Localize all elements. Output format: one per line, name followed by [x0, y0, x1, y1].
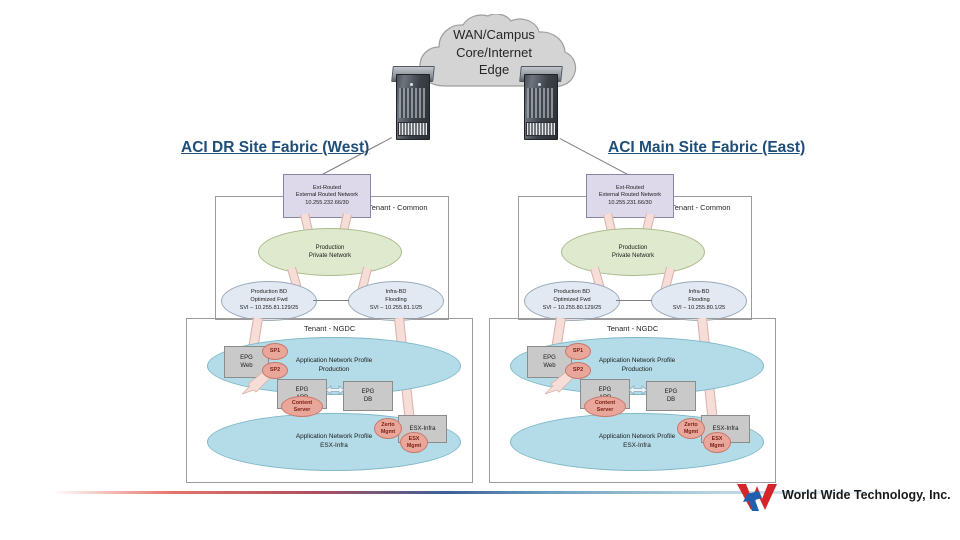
bridge-domain-production-west[interactable]: Production BD Optimized Fwd SVI – 10.255…	[221, 281, 317, 321]
chassis-slots-east	[527, 88, 553, 118]
anp-line-1: Application Network Profile	[599, 357, 675, 366]
vrf-line-2: Private Network	[612, 252, 654, 260]
tenant-ngdc-label-east: Tenant - NGDC	[607, 324, 658, 333]
ext-routed-line-2: External Routed Network	[599, 192, 661, 200]
anp-line-2: Production	[622, 366, 653, 375]
epg-line-1: EPG	[543, 354, 556, 362]
bd-name: Production BD	[251, 289, 287, 297]
bd-svi: SVI – 10.255.81.1/25	[370, 305, 423, 313]
pill-line-1: Content	[292, 400, 312, 407]
service-esx-mgmt-west[interactable]: ESX Mgmt	[400, 432, 428, 453]
pill-line-1: Content	[595, 400, 615, 407]
epg-line-1: EPG	[665, 388, 678, 396]
anp-line-2: ESX-Infra	[623, 442, 651, 451]
chassis-fan-west	[398, 122, 428, 136]
cloud-line-1: WAN/Campus	[408, 26, 580, 44]
pill-line-2: Mgmt	[684, 429, 698, 436]
pill-line-1: Zerto	[684, 422, 697, 429]
fabric-title-east: ACI Main Site Fabric (East)	[608, 139, 805, 157]
service-sp2-west[interactable]: SP2	[262, 362, 288, 379]
vrf-line-1: Production	[316, 244, 345, 252]
bridge-domain-production-east[interactable]: Production BD Optimized Fwd SVI – 10.255…	[524, 281, 620, 321]
pill-line-2: Mgmt	[407, 443, 421, 450]
pill-line-2: Server	[294, 407, 311, 414]
pill-line-1: Zerto	[381, 422, 394, 429]
vrf-line-1: Production	[619, 244, 648, 252]
tenant-common-label-west: Tenant - Common	[368, 203, 428, 212]
bd-name: Infra-BD	[689, 289, 710, 297]
contract-arrow-west	[322, 386, 348, 402]
ext-routed-line-1: Ext-Routed	[313, 185, 341, 193]
service-sp2-east[interactable]: SP2	[565, 362, 591, 379]
chassis-led-east	[538, 83, 541, 86]
bd-mode: Optimized Fwd	[553, 297, 590, 305]
bd-svi: SVI – 10.255.80.129/25	[543, 305, 602, 313]
bridge-domain-infra-west[interactable]: Infra-BD Flooding SVI – 10.255.81.1/25	[348, 281, 444, 321]
tenant-ngdc-label-west: Tenant - NGDC	[304, 324, 355, 333]
bd-mode: Optimized Fwd	[250, 297, 287, 305]
anp-line-1: Application Network Profile	[296, 357, 372, 366]
epg-db-west[interactable]: EPG DB	[343, 381, 393, 411]
bd-peer-line-east	[616, 300, 652, 301]
pill-line-1: SP1	[573, 348, 583, 355]
epg-line-1: EPG	[296, 386, 309, 394]
ext-routed-line-1: Ext-Routed	[616, 185, 644, 193]
anp-line-2: Production	[319, 366, 350, 375]
service-esx-mgmt-east[interactable]: ESX Mgmt	[703, 432, 731, 453]
contract-arrow-east	[625, 386, 651, 402]
pill-line-2: Server	[597, 407, 614, 414]
service-content-server-east[interactable]: Content Server	[584, 396, 626, 417]
ext-routed-network-box-east[interactable]: Ext-Routed External Routed Network 10.25…	[586, 174, 674, 218]
pill-line-2: Mgmt	[381, 429, 395, 436]
core-router-east	[520, 66, 560, 138]
bd-name: Infra-BD	[386, 289, 407, 297]
bd-mode: Flooding	[688, 297, 709, 305]
ext-routed-line-3: 10.255.231.66/30	[608, 200, 652, 208]
service-sp1-east[interactable]: SP1	[565, 343, 591, 360]
tenant-common-label-east: Tenant - Common	[671, 203, 731, 212]
service-sp1-west[interactable]: SP1	[262, 343, 288, 360]
pill-line-2: Mgmt	[710, 443, 724, 450]
bd-peer-line-west	[313, 300, 349, 301]
epg-line-1: EPG	[599, 386, 612, 394]
vrf-production-private-network-west[interactable]: Production Private Network	[258, 228, 402, 276]
epg-line-1: EPG	[240, 354, 253, 362]
bd-name: Production BD	[554, 289, 590, 297]
anp-line-1: Application Network Profile	[599, 433, 675, 442]
company-name: World Wide Technology, Inc.	[782, 488, 951, 502]
core-router-west	[392, 66, 432, 138]
vrf-production-private-network-east[interactable]: Production Private Network	[561, 228, 705, 276]
ext-routed-line-2: External Routed Network	[296, 192, 358, 200]
chassis-led-west	[410, 83, 413, 86]
chassis-fan-east	[526, 122, 556, 136]
vrf-line-2: Private Network	[309, 252, 351, 260]
fabric-title-west: ACI DR Site Fabric (West)	[181, 139, 369, 157]
anp-line-1: Application Network Profile	[296, 433, 372, 442]
pill-line-1: ESX	[409, 436, 420, 443]
chassis-slots-west	[399, 88, 425, 118]
pill-line-1: SP2	[573, 367, 583, 374]
bd-svi: SVI – 10.255.81.129/25	[240, 305, 299, 313]
pill-line-1: SP2	[270, 367, 280, 374]
epg-line-2: DB	[667, 396, 675, 404]
pill-line-1: SP1	[270, 348, 280, 355]
diagram-canvas: WAN/Campus Core/Internet Edge ACI DR Sit…	[0, 0, 960, 540]
ext-routed-line-3: 10.255.232.66/30	[305, 200, 349, 208]
bd-mode: Flooding	[385, 297, 406, 305]
epg-line-2: DB	[364, 396, 372, 404]
service-content-server-west[interactable]: Content Server	[281, 396, 323, 417]
anp-line-2: ESX-Infra	[320, 442, 348, 451]
wwt-logo-icon	[735, 480, 781, 514]
service-zerto-mgmt-west[interactable]: Zerto Mgmt	[374, 418, 402, 439]
pill-line-1: ESX	[712, 436, 723, 443]
epg-db-east[interactable]: EPG DB	[646, 381, 696, 411]
epg-line-1: EPG	[362, 388, 375, 396]
bd-svi: SVI – 10.255.80.1/25	[673, 305, 726, 313]
cloud-line-2: Core/Internet	[408, 44, 580, 62]
bridge-domain-infra-east[interactable]: Infra-BD Flooding SVI – 10.255.80.1/25	[651, 281, 747, 321]
ext-routed-network-box-west[interactable]: Ext-Routed External Routed Network 10.25…	[283, 174, 371, 218]
service-zerto-mgmt-east[interactable]: Zerto Mgmt	[677, 418, 705, 439]
